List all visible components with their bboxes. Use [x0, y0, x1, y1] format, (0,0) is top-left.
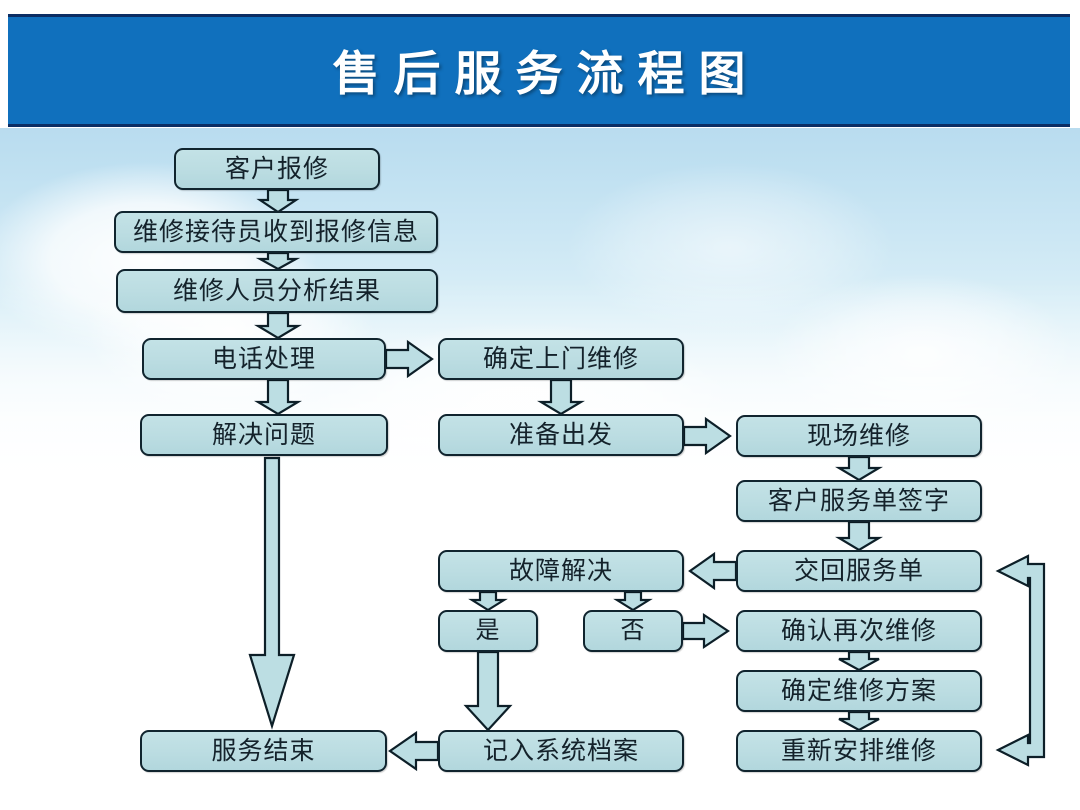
node-label: 解决问题 [212, 423, 316, 448]
node-label: 准备出发 [509, 423, 613, 448]
node-confirm-repair-plan[interactable]: 确定维修方案 [736, 670, 982, 712]
node-service-end[interactable]: 服务结束 [140, 730, 387, 772]
node-label: 现场维修 [807, 424, 911, 449]
node-label: 确定上门维修 [483, 347, 639, 372]
node-fault-resolved[interactable]: 故障解决 [438, 550, 684, 592]
node-label: 维修人员分析结果 [173, 279, 381, 304]
flowchart-canvas: 售后服务流程图 [0, 0, 1080, 810]
node-confirm-onsite-repair[interactable]: 确定上门维修 [438, 338, 684, 380]
node-label: 记入系统档案 [483, 739, 639, 764]
node-prepare-departure[interactable]: 准备出发 [438, 414, 684, 456]
node-technician-analysis[interactable]: 维修人员分析结果 [116, 269, 438, 313]
node-return-service-order[interactable]: 交回服务单 [736, 550, 982, 592]
node-onsite-repair[interactable]: 现场维修 [736, 415, 982, 457]
node-label: 故障解决 [509, 559, 613, 584]
node-label: 确定维修方案 [781, 679, 937, 704]
page-title: 售后服务流程图 [8, 35, 1070, 104]
node-record-system-archive[interactable]: 记入系统档案 [438, 730, 684, 772]
node-label: 是 [476, 619, 501, 643]
node-problem-solved[interactable]: 解决问题 [140, 414, 388, 456]
node-yes[interactable]: 是 [438, 610, 538, 652]
node-label: 服务结束 [211, 739, 315, 764]
node-label: 维修接待员收到报修信息 [133, 220, 419, 245]
node-phone-handling[interactable]: 电话处理 [142, 338, 386, 380]
node-no[interactable]: 否 [583, 610, 683, 652]
node-receptionist-received[interactable]: 维修接待员收到报修信息 [114, 211, 438, 253]
node-label: 否 [621, 619, 646, 643]
node-label: 交回服务单 [794, 559, 924, 584]
node-label: 客户服务单签字 [768, 489, 950, 514]
node-label: 客户报修 [225, 157, 329, 182]
node-label: 重新安排维修 [781, 739, 937, 764]
node-customer-report[interactable]: 客户报修 [174, 148, 380, 190]
node-label: 确认再次维修 [781, 619, 937, 644]
node-confirm-repeat-repair[interactable]: 确认再次维修 [736, 610, 982, 652]
node-label: 电话处理 [212, 347, 316, 372]
node-service-order-signature[interactable]: 客户服务单签字 [736, 480, 982, 522]
node-reschedule-repair[interactable]: 重新安排维修 [736, 730, 982, 772]
title-banner: 售后服务流程图 [8, 14, 1070, 127]
